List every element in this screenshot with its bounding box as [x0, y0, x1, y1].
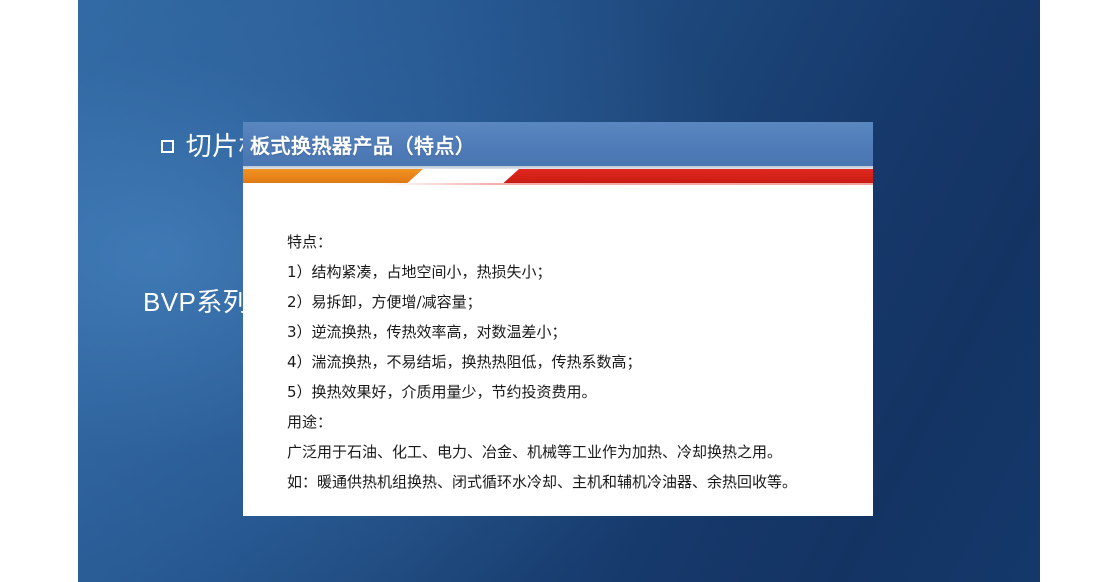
- body-line: 用途：: [287, 407, 873, 437]
- content-card: 板式换热器产品（特点） 特点： 1）结构紧凑，占地空间小，热损失小； 2）易拆卸…: [243, 122, 873, 516]
- body-line: 5）换热效果好，介质用量少，节约投资费用。: [287, 377, 873, 407]
- body-line: 4）湍流换热，不易结垢，换热热阻低，传热系数高；: [287, 347, 873, 377]
- body-line: 1）结构紧凑，占地空间小，热损失小；: [287, 257, 873, 287]
- card-header: 板式换热器产品（特点）: [243, 122, 873, 166]
- slide-canvas: 切片机砂浆温度精确控制系统 BVP系列高效板换 板式换热器产品（特点） 特点： …: [78, 0, 1040, 582]
- card-body: 特点： 1）结构紧凑，占地空间小，热损失小； 2）易拆卸，方便增/减容量； 3）…: [243, 185, 873, 497]
- body-line: 特点：: [287, 227, 873, 257]
- body-line: 如：暖通供热机组换热、闭式循环水冷却、主机和辅机冷油器、余热回收等。: [287, 467, 873, 497]
- body-line: 2）易拆卸，方便增/减容量；: [287, 287, 873, 317]
- body-line: 广泛用于石油、化工、电力、冶金、机械等工业作为加热、冷却换热之用。: [287, 437, 873, 467]
- hollow-square-bullet-icon: [161, 140, 174, 153]
- body-line: 3）逆流换热，传热效率高，对数温差小；: [287, 317, 873, 347]
- accent-bar: [243, 169, 873, 183]
- card-header-title: 板式换热器产品（特点）: [243, 130, 476, 159]
- accent-bar-red-segment: [457, 169, 873, 183]
